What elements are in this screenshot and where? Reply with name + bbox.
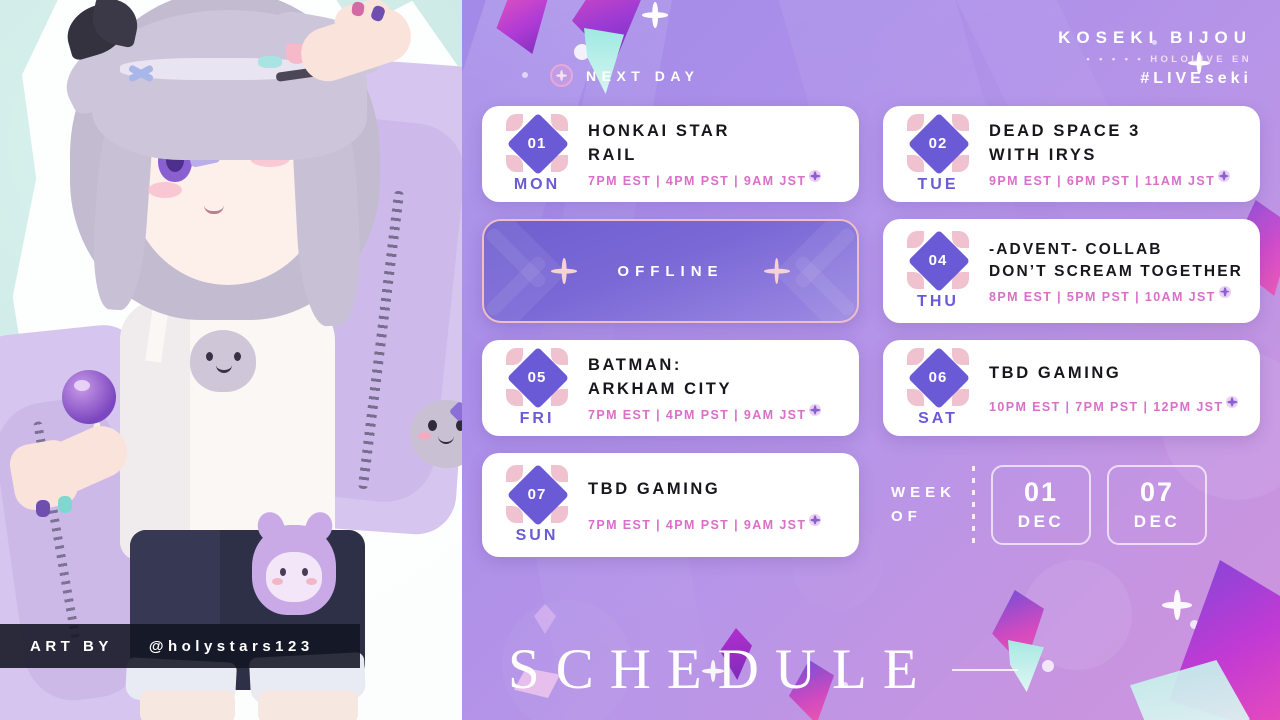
talent-name: KOSEKI BIJOU bbox=[1058, 28, 1252, 48]
next-day-marker: NEXT DAY bbox=[550, 64, 700, 87]
bg-dot-6 bbox=[1042, 660, 1054, 672]
day-name: SUN bbox=[498, 527, 576, 545]
art-credit-handle[interactable]: @holystars123 bbox=[149, 638, 314, 655]
week-of-label: WEEK OF bbox=[891, 481, 956, 529]
stream-times-text: 10PM EST | 7PM PST | 12PM JST bbox=[989, 400, 1223, 414]
next-day-label: NEXT DAY bbox=[586, 68, 700, 84]
week-end-day: 07 bbox=[1140, 479, 1174, 506]
schedule-card-tue[interactable]: 02 TUE DEAD SPACE 3 WITH IRYS 9PM EST | … bbox=[883, 106, 1260, 202]
card-info: BATMAN: ARKHAM CITY 7PM EST | 4PM PST | … bbox=[576, 354, 845, 422]
week-start-month: DEC bbox=[1018, 512, 1064, 532]
day-number: 02 bbox=[906, 115, 970, 173]
diamond-badge-icon: 06 bbox=[906, 349, 970, 407]
stream-title-line2: DON’T SCREAM TOGETHER bbox=[989, 261, 1246, 283]
schedule-col-right: 06 SAT TBD GAMING 10PM EST | 7PM PST | 1… bbox=[883, 340, 1260, 436]
card-info: HONKAI STAR RAIL 7PM EST | 4PM PST | 9AM… bbox=[576, 120, 845, 188]
branding: KOSEKI BIJOU • • • • • HOLOLIVE EN #LIVE… bbox=[1058, 28, 1252, 88]
schedule-card-sun[interactable]: 07 SUN TBD GAMING 7PM EST | 4PM PST | 9A… bbox=[482, 453, 859, 557]
schedule-col-right: WEEK OF 01 DEC 07 DEC bbox=[883, 453, 1260, 557]
art-credit-label: ART BY bbox=[30, 638, 113, 655]
day-number: 04 bbox=[906, 232, 970, 290]
schedule-row-4: 07 SUN TBD GAMING 7PM EST | 4PM PST | 9A… bbox=[462, 453, 1280, 557]
next-day-sparkle-icon bbox=[1219, 286, 1231, 298]
day-badge: 07 SUN bbox=[498, 466, 576, 545]
card-info: DEAD SPACE 3 WITH IRYS 9PM EST | 6PM PST… bbox=[977, 120, 1246, 188]
week-start-date: 01 DEC bbox=[991, 465, 1091, 545]
schedule-card-sat[interactable]: 06 SAT TBD GAMING 10PM EST | 7PM PST | 1… bbox=[883, 340, 1260, 436]
schedule-panel: NEXT DAY KOSEKI BIJOU • • • • • HOLOLIVE… bbox=[462, 0, 1280, 720]
next-day-sparkle-icon bbox=[809, 404, 821, 416]
stream-times: 7PM EST | 4PM PST | 9AM JST bbox=[588, 518, 845, 532]
next-day-sparkle-icon bbox=[809, 514, 821, 526]
plush-blush-right bbox=[306, 578, 317, 585]
stream-times: 7PM EST | 4PM PST | 9AM JST bbox=[588, 408, 845, 422]
day-number: 05 bbox=[505, 349, 569, 407]
schedule-col-left: 01 MON HONKAI STAR RAIL 7PM EST | 4PM PS… bbox=[482, 106, 859, 202]
day-number: 01 bbox=[505, 115, 569, 173]
dotted-divider bbox=[972, 466, 975, 544]
day-name: SAT bbox=[899, 410, 977, 428]
plush-eye-left bbox=[280, 568, 286, 576]
blush-left bbox=[148, 182, 182, 198]
stream-times-text: 7PM EST | 4PM PST | 9AM JST bbox=[588, 174, 806, 188]
schedule-col-right: 04 THU -ADVENT- COLLAB DON’T SCREAM TOGE… bbox=[883, 219, 1260, 323]
plush-face bbox=[266, 552, 322, 602]
art-credit-bar: ART BY @holystars123 bbox=[0, 624, 360, 668]
diamond-badge-icon: 07 bbox=[505, 466, 569, 524]
bg-dot-2 bbox=[522, 72, 528, 78]
schedule-col-right: 02 TUE DEAD SPACE 3 WITH IRYS 9PM EST | … bbox=[883, 106, 1260, 202]
stream-title-line2: RAIL bbox=[588, 144, 845, 167]
next-day-sparkle-icon bbox=[1218, 170, 1230, 182]
plush-blush-left bbox=[272, 578, 283, 585]
stream-title-line1: TBD GAMING bbox=[588, 478, 845, 501]
schedule-card-fri[interactable]: 05 FRI BATMAN: ARKHAM CITY 7PM EST | 4PM… bbox=[482, 340, 859, 436]
leg-right bbox=[258, 690, 358, 720]
diamond-badge-icon: 01 bbox=[505, 115, 569, 173]
schedule-grid: 01 MON HONKAI STAR RAIL 7PM EST | 4PM PS… bbox=[462, 106, 1280, 574]
stream-title-line2: ARKHAM CITY bbox=[588, 378, 845, 401]
schedule-col-left: 05 FRI BATMAN: ARKHAM CITY 7PM EST | 4PM… bbox=[482, 340, 859, 436]
offline-label: OFFLINE bbox=[617, 263, 723, 280]
schedule-card-thu[interactable]: 04 THU -ADVENT- COLLAB DON’T SCREAM TOGE… bbox=[883, 219, 1260, 323]
lollipop-shine bbox=[74, 380, 90, 391]
nail-purple-lower bbox=[36, 500, 50, 517]
day-name: MON bbox=[498, 176, 576, 194]
leg-left bbox=[140, 690, 235, 720]
plush-eye-right bbox=[302, 568, 308, 576]
diamond-badge-icon: 04 bbox=[906, 232, 970, 290]
character-art-panel bbox=[0, 0, 470, 720]
stream-times-text: 7PM EST | 4PM PST | 9AM JST bbox=[588, 408, 806, 422]
shirt-mascot-eye-left bbox=[206, 352, 213, 361]
offline-banner: OFFLINE bbox=[482, 219, 859, 323]
day-badge: 06 SAT bbox=[899, 349, 977, 428]
next-day-sparkle-icon bbox=[809, 170, 821, 182]
hair-clip-bow bbox=[258, 56, 282, 68]
sparkle-icon bbox=[764, 258, 790, 284]
next-day-sparkle-icon bbox=[1226, 396, 1238, 408]
week-of-label-line1: WEEK bbox=[891, 481, 956, 505]
sparkle-icon bbox=[551, 258, 577, 284]
stream-times: 10PM EST | 7PM PST | 12PM JST bbox=[989, 400, 1246, 414]
day-badge: 05 FRI bbox=[498, 349, 576, 428]
footer: SCHEDULE bbox=[508, 641, 1018, 698]
schedule-row-2: OFFLINE 04 bbox=[462, 219, 1280, 323]
stream-times: 8PM EST | 5PM PST | 10AM JST bbox=[989, 290, 1246, 304]
stream-title-line1: DEAD SPACE 3 bbox=[989, 120, 1246, 143]
stream-title-line1: -ADVENT- COLLAB bbox=[989, 239, 1246, 261]
week-end-month: DEC bbox=[1134, 512, 1180, 532]
day-badge: 01 MON bbox=[498, 115, 576, 194]
day-badge: 02 TUE bbox=[899, 115, 977, 194]
title-rule bbox=[952, 669, 1018, 671]
card-info: -ADVENT- COLLAB DON’T SCREAM TOGETHER 8P… bbox=[977, 239, 1246, 304]
week-of-label-line2: OF bbox=[891, 505, 956, 529]
stream-hashtag: #LIVEseki bbox=[1058, 70, 1252, 88]
sparkle-1 bbox=[642, 2, 668, 28]
day-name: TUE bbox=[899, 176, 977, 194]
shirt-mascot-print bbox=[190, 330, 256, 392]
week-of-block: WEEK OF 01 DEC 07 DEC bbox=[883, 453, 1260, 557]
schedule-graphic: ART BY @holystars123 bbox=[0, 0, 1280, 720]
stream-times-text: 8PM EST | 5PM PST | 10AM JST bbox=[989, 290, 1216, 304]
diamond-badge-icon: 02 bbox=[906, 115, 970, 173]
character-illustration bbox=[0, 0, 470, 720]
week-start-day: 01 bbox=[1024, 479, 1058, 506]
side-mascot-eye-left bbox=[428, 420, 437, 431]
diamond-badge-icon: 05 bbox=[505, 349, 569, 407]
schedule-col-left: OFFLINE bbox=[482, 219, 859, 323]
day-number: 07 bbox=[505, 466, 569, 524]
agency-label: • • • • • HOLOLIVE EN bbox=[1058, 54, 1252, 65]
lollipop-candy bbox=[62, 370, 116, 424]
schedule-row-3: 05 FRI BATMAN: ARKHAM CITY 7PM EST | 4PM… bbox=[462, 340, 1280, 436]
day-name: FRI bbox=[498, 410, 576, 428]
week-end-date: 07 DEC bbox=[1107, 465, 1207, 545]
shirt-mascot-eye-right bbox=[234, 352, 241, 361]
stream-times-text: 9PM EST | 6PM PST | 11AM JST bbox=[989, 174, 1215, 188]
side-mascot-blush bbox=[418, 432, 431, 440]
stream-times-text: 7PM EST | 4PM PST | 9AM JST bbox=[588, 518, 806, 532]
day-badge: 04 THU bbox=[899, 232, 977, 311]
stream-title-line1: TBD GAMING bbox=[989, 362, 1246, 385]
sparkle-circle-icon bbox=[550, 64, 573, 87]
stream-title-line1: BATMAN: bbox=[588, 354, 845, 377]
stream-title-line2: WITH IRYS bbox=[989, 144, 1246, 167]
page-title: SCHEDULE bbox=[508, 641, 934, 698]
day-number: 06 bbox=[906, 349, 970, 407]
stream-title-line1: HONKAI STAR bbox=[588, 120, 845, 143]
nail-mint-lower bbox=[58, 496, 72, 513]
stream-times: 7PM EST | 4PM PST | 9AM JST bbox=[588, 174, 845, 188]
schedule-card-mon[interactable]: 01 MON HONKAI STAR RAIL 7PM EST | 4PM PS… bbox=[482, 106, 859, 202]
sparkle-3 bbox=[1162, 590, 1192, 620]
card-info: TBD GAMING 10PM EST | 7PM PST | 12PM JST bbox=[977, 362, 1246, 413]
day-name: THU bbox=[899, 293, 977, 311]
schedule-col-left: 07 SUN TBD GAMING 7PM EST | 4PM PST | 9A… bbox=[482, 453, 859, 557]
card-info: TBD GAMING 7PM EST | 4PM PST | 9AM JST bbox=[576, 478, 845, 531]
schedule-row-1: 01 MON HONKAI STAR RAIL 7PM EST | 4PM PS… bbox=[462, 106, 1280, 202]
stream-times: 9PM EST | 6PM PST | 11AM JST bbox=[989, 174, 1246, 188]
